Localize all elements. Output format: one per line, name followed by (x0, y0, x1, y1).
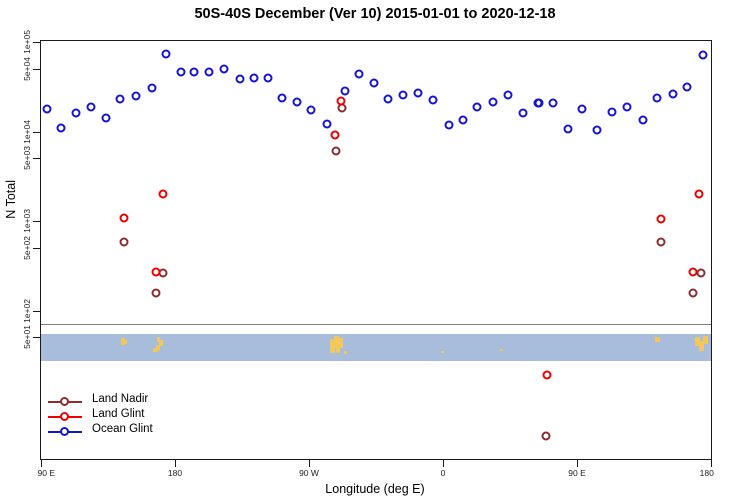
map-landmass (441, 351, 444, 353)
legend-item-land-nadir[interactable]: Land Nadir (48, 394, 198, 409)
data-point-ocean-glint (264, 74, 273, 83)
data-point-ocean-glint (593, 126, 602, 135)
y-tick-label: 5e+03 (0, 138, 32, 178)
data-point-ocean-glint (384, 95, 393, 104)
y-tick-label-text: 5e+02 (22, 236, 32, 260)
x-tick-label: 180 (168, 468, 182, 478)
data-point-ocean-glint (132, 92, 141, 101)
data-point-land-glint (542, 371, 551, 380)
data-point-ocean-glint (563, 125, 572, 134)
legend-marker-icon (60, 427, 69, 436)
x-tick (577, 460, 578, 467)
map-landmass (500, 349, 503, 351)
world-map-strip (41, 334, 711, 361)
data-point-ocean-glint (489, 97, 498, 106)
y-tick-label-text: 5e+01 (22, 325, 32, 349)
data-point-land-glint (331, 131, 340, 140)
data-point-ocean-glint (116, 95, 125, 104)
x-tick (711, 460, 712, 467)
data-point-ocean-glint (220, 65, 229, 74)
data-point-ocean-glint (307, 106, 316, 115)
x-tick-label: 90 E (38, 468, 56, 478)
data-point-ocean-glint (608, 107, 617, 116)
map-landmass (703, 336, 708, 344)
data-point-ocean-glint (683, 83, 692, 92)
data-point-land-glint (689, 268, 698, 277)
data-point-ocean-glint (653, 94, 662, 103)
data-point-ocean-glint (176, 67, 185, 76)
chart-root: 50S-40S December (Ver 10) 2015-01-01 to … (0, 0, 750, 500)
map-landmass (339, 338, 343, 348)
y-tick-label-text: 5e+03 (22, 146, 32, 170)
legend-label: Land Nadir (92, 393, 148, 405)
data-point-ocean-glint (414, 88, 423, 97)
legend-label: Ocean Glint (92, 423, 153, 435)
y-tick (33, 311, 40, 312)
y-tick (33, 69, 40, 70)
data-point-ocean-glint (504, 91, 513, 100)
data-point-ocean-glint (472, 103, 481, 112)
data-point-ocean-glint (638, 116, 647, 125)
data-point-ocean-glint (323, 120, 332, 129)
data-point-ocean-glint (162, 50, 171, 59)
data-point-ocean-glint (698, 50, 707, 59)
x-tick-label: 90 W (299, 468, 319, 478)
x-tick-label: 0 (441, 468, 446, 478)
data-point-land-glint (695, 190, 704, 199)
map-landmass (153, 348, 157, 352)
data-point-ocean-glint (236, 75, 245, 84)
data-point-ocean-glint (399, 91, 408, 100)
legend-marker-icon (60, 397, 69, 406)
x-tick (41, 460, 42, 467)
data-point-land-glint (158, 190, 167, 199)
data-point-land-nadir (120, 237, 129, 246)
y-tick (33, 132, 40, 133)
data-point-ocean-glint (293, 98, 302, 107)
legend-label: Land Glint (92, 408, 144, 420)
y-tick-label: 5e+02 (0, 228, 32, 268)
page-title: 50S-40S December (Ver 10) 2015-01-01 to … (0, 6, 750, 22)
data-point-land-nadir (152, 289, 161, 298)
data-point-land-nadir (331, 147, 340, 156)
data-point-land-glint (152, 268, 161, 277)
data-point-ocean-glint (204, 68, 213, 77)
data-point-ocean-glint (445, 121, 454, 130)
y-tick-label: 5e+01 (0, 317, 32, 357)
y-tick (33, 158, 40, 159)
data-point-ocean-glint (549, 99, 558, 108)
data-point-ocean-glint (102, 114, 111, 123)
data-point-ocean-glint (340, 86, 349, 95)
x-tick (309, 460, 310, 467)
legend-item-land-glint[interactable]: Land Glint (48, 409, 198, 424)
data-point-ocean-glint (459, 116, 468, 125)
data-point-ocean-glint (42, 105, 51, 114)
map-landmass (344, 351, 347, 354)
map-landmass (655, 337, 660, 342)
legend: Land Nadir Land Glint Ocean Glint (48, 394, 198, 439)
data-point-land-nadir (542, 432, 551, 441)
data-point-ocean-glint (428, 96, 437, 105)
x-tick-label: 90 E (568, 468, 586, 478)
x-axis-title: Longitude (deg E) (0, 482, 750, 496)
data-point-ocean-glint (355, 69, 364, 78)
data-point-ocean-glint (250, 73, 259, 82)
data-point-ocean-glint (71, 109, 80, 118)
data-point-ocean-glint (668, 90, 677, 99)
y-tick-label: 5e+04 (0, 49, 32, 89)
data-point-land-glint (120, 214, 129, 223)
data-point-ocean-glint (147, 84, 156, 93)
data-point-ocean-glint (369, 78, 378, 87)
y-tick (33, 337, 40, 338)
data-point-ocean-glint (622, 102, 631, 111)
x-tick-label: 180 (700, 468, 714, 478)
x-tick (175, 460, 176, 467)
y-tick (33, 248, 40, 249)
map-landmass (124, 340, 127, 344)
x-tick (443, 460, 444, 467)
data-point-ocean-glint (578, 105, 587, 114)
data-point-land-nadir (689, 289, 698, 298)
data-point-land-glint (337, 97, 346, 106)
y-tick (33, 42, 40, 43)
y-tick-label-text: 5e+04 (22, 57, 32, 81)
y-tick (33, 221, 40, 222)
data-point-land-nadir (657, 237, 666, 246)
data-point-ocean-glint (86, 102, 95, 111)
data-point-land-glint (657, 215, 666, 224)
data-point-ocean-glint (535, 98, 544, 107)
legend-marker-icon (60, 412, 69, 421)
data-point-ocean-glint (56, 123, 65, 132)
data-point-ocean-glint (190, 67, 199, 76)
data-point-ocean-glint (278, 94, 287, 103)
map-separator-line (41, 324, 711, 325)
data-point-ocean-glint (519, 108, 528, 117)
legend-item-ocean-glint[interactable]: Ocean Glint (48, 424, 198, 439)
